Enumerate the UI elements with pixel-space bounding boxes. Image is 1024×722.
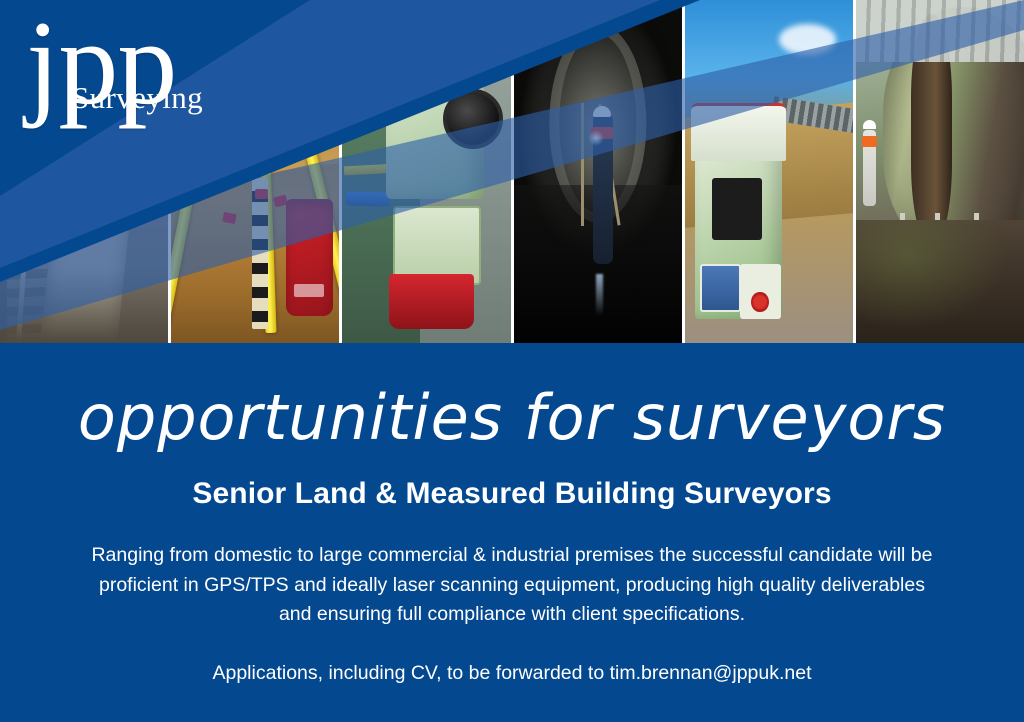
tripod-shape — [581, 103, 584, 226]
tunnel-survey-photo — [514, 0, 682, 343]
water-reflection-shape — [596, 274, 603, 315]
page-headline: opportunities for surveyors — [0, 343, 1024, 449]
job-description-text: Ranging from domestic to large commercia… — [82, 511, 942, 630]
quarry-total-station-photo — [685, 0, 853, 343]
tunnel-lining-photo — [856, 0, 1024, 343]
total-station-keypad-shape — [740, 264, 780, 319]
headlamp-glow-shape — [588, 130, 604, 146]
tripod-clamp-shape — [255, 189, 268, 199]
total-station-head-shape — [691, 103, 785, 161]
tripod-clamp-shape — [222, 212, 237, 224]
survey-pole-shape — [252, 178, 268, 329]
poster-canvas: jpp Surveying opportunities for surveyor… — [0, 0, 1024, 722]
total-station-photo — [342, 0, 510, 343]
cloud-shape — [779, 24, 836, 55]
application-instruction-text: Applications, including CV, to be forwar… — [82, 630, 942, 685]
total-station-port-shape — [712, 178, 762, 240]
equipment-bag-shape — [286, 199, 333, 316]
content-panel: opportunities for surveyors Senior Land … — [0, 343, 1024, 722]
red-tripod-head-shape — [389, 274, 473, 329]
total-station-screen-shape — [700, 264, 741, 313]
job-title-subheading: Senior Land & Measured Building Surveyor… — [0, 449, 1024, 511]
logo-tagline: Surveying — [72, 80, 236, 116]
instrument-keypad-shape — [393, 206, 481, 285]
blue-pipe-shape — [345, 191, 389, 207]
ceiling-structure-shape — [856, 0, 1024, 62]
jpp-logo[interactable]: jpp Surveying — [26, 8, 236, 116]
telescope-lens-shape — [443, 89, 503, 149]
ground-shade — [0, 268, 168, 343]
hard-hat-shape — [593, 106, 611, 117]
worker-figure-shape — [863, 130, 876, 205]
ground-shape — [856, 220, 1024, 343]
